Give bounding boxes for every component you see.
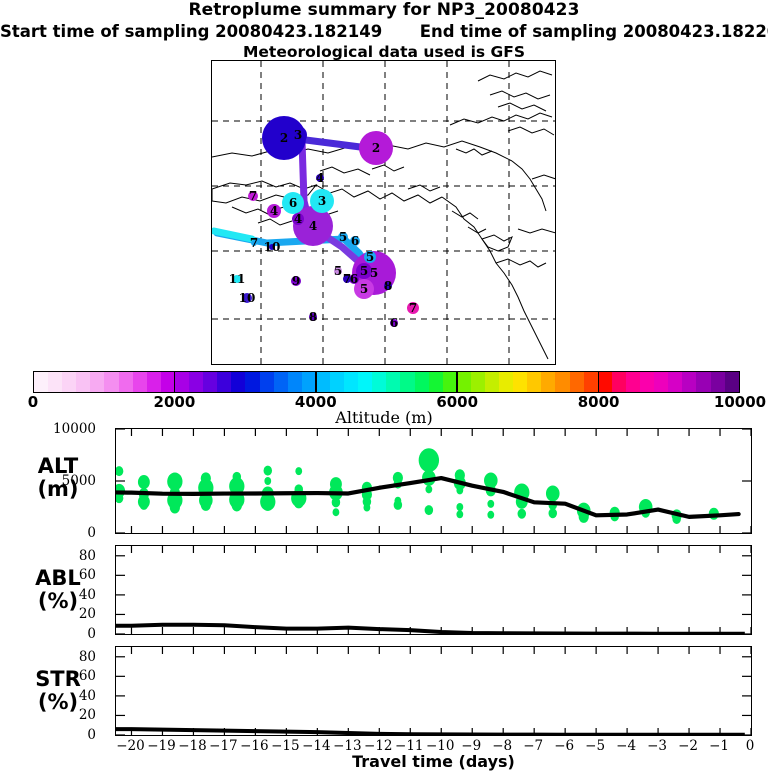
- colorbar-swatch: [372, 372, 386, 392]
- colorbar-swatch: [62, 372, 76, 392]
- map-altitude-marker: [407, 302, 419, 314]
- colorbar-swatch: [90, 372, 104, 392]
- colorbar-swatch: [598, 372, 612, 392]
- colorbar-swatch: [443, 372, 457, 392]
- colorbar-swatch: [217, 372, 231, 392]
- sampling-time-row: Start time of sampling 20080423.182149 E…: [0, 21, 768, 42]
- map-altitude-marker: [248, 191, 258, 201]
- colorbar-swatch: [344, 372, 358, 392]
- colorbar-swatch: [245, 372, 259, 392]
- colorbar-swatch: [260, 372, 274, 392]
- colorbar-swatch: [640, 372, 654, 392]
- map-altitude-marker: [384, 282, 392, 290]
- colorbar-swatch: [457, 372, 471, 392]
- colorbar-swatch: [499, 372, 513, 392]
- start-time-label: Start time of sampling 20080423.182149: [0, 22, 382, 41]
- colorbar-swatch: [429, 372, 443, 392]
- str-series-line: [116, 729, 745, 735]
- colorbar-swatch: [274, 372, 288, 392]
- map-altitude-marker: [390, 319, 398, 327]
- colorbar-swatch: [471, 372, 485, 392]
- colorbar-swatch: [415, 372, 429, 392]
- y-tick-label: 60: [79, 567, 96, 583]
- colorbar-swatch: [513, 372, 527, 392]
- colorbar-swatch: [316, 372, 330, 392]
- y-tick-label: 5000: [62, 473, 96, 489]
- colorbar-separator: [315, 371, 317, 393]
- map-altitude-marker: [309, 313, 317, 321]
- colorbar-swatch: [231, 372, 245, 392]
- map-altitude-marker: [334, 267, 342, 275]
- y-tick-label: 0: [87, 626, 96, 642]
- colorbar-swatch: [668, 372, 682, 392]
- map-altitude-marker: [350, 236, 360, 246]
- map-altitude-marker: [291, 276, 301, 286]
- alt-plot-panel[interactable]: [115, 428, 752, 534]
- altitude-colorbar[interactable]: [33, 371, 740, 393]
- str-y-tick-labels: 020406080: [0, 646, 112, 736]
- y-tick-label: 60: [79, 668, 96, 684]
- colorbar-swatch: [612, 372, 626, 392]
- y-tick-label: 80: [79, 548, 96, 564]
- colorbar-separator: [456, 371, 458, 393]
- map-altitude-marker: [310, 189, 334, 213]
- str-x-ticks: [131, 647, 751, 735]
- title-block: Retroplume summary for NP3_20080423 Star…: [0, 0, 768, 62]
- map-altitude-marker: [316, 174, 324, 182]
- map-altitude-marker: [289, 126, 307, 144]
- alt-y-tick-labels: 0500010000: [0, 428, 112, 534]
- met-data-label: Meteorological data used is GFS: [0, 42, 768, 62]
- colorbar-swatch: [189, 372, 203, 392]
- map-altitude-marker: [242, 293, 252, 303]
- colorbar-swatch: [358, 372, 372, 392]
- map-altitude-marker: [359, 131, 393, 165]
- map-altitude-marker: [282, 192, 304, 214]
- y-tick-label: 0: [87, 525, 96, 541]
- colorbar-swatch: [626, 372, 640, 392]
- colorbar-swatch: [400, 372, 414, 392]
- map-altitude-marker: [292, 213, 304, 225]
- abl-plot-canvas: [116, 546, 751, 634]
- map-altitude-marker: [269, 244, 275, 250]
- colorbar-swatch: [541, 372, 555, 392]
- colorbar-separator: [598, 371, 600, 393]
- map-altitude-marker: [251, 240, 257, 246]
- map-altitude-marker: [364, 251, 376, 263]
- colorbar-swatch: [119, 372, 133, 392]
- map-altitude-marker: [343, 275, 351, 283]
- colorbar-swatch: [570, 372, 584, 392]
- colorbar-swatch: [76, 372, 90, 392]
- colorbar-swatch: [485, 372, 499, 392]
- y-tick-label: 80: [79, 649, 96, 665]
- colorbar-swatch: [104, 372, 118, 392]
- colorbar-swatch: [330, 372, 344, 392]
- map-altitude-marker: [338, 232, 348, 242]
- y-tick-label: 0: [87, 727, 96, 743]
- colorbar-swatch: [725, 372, 739, 392]
- map-altitude-marker: [267, 204, 281, 218]
- y-tick-label: 40: [79, 587, 96, 603]
- abl-x-ticks: [131, 546, 751, 634]
- colorbar-swatch: [288, 372, 302, 392]
- alt-plot-canvas: [116, 429, 751, 533]
- retroplume-map[interactable]: 2324746344567105576558511109876: [211, 60, 556, 365]
- colorbar-swatch: [386, 372, 400, 392]
- y-tick-label: 20: [79, 606, 96, 622]
- colorbar-separator: [174, 371, 176, 393]
- y-tick-label: 10000: [53, 421, 96, 437]
- colorbar-swatch: [654, 372, 668, 392]
- y-tick-label: 20: [79, 707, 96, 723]
- str-plot-panel[interactable]: [115, 646, 752, 736]
- map-altitude-marker: [233, 275, 241, 283]
- abl-y-ticks: [116, 556, 751, 634]
- end-time-label: End time of sampling 20080423.182208: [420, 22, 768, 41]
- colorbar-swatch: [175, 372, 189, 392]
- map-point-layer: 2324746344567105576558511109876: [212, 61, 555, 364]
- colorbar-swatch: [527, 372, 541, 392]
- colorbar-swatch: [48, 372, 62, 392]
- colorbar-swatch: [302, 372, 316, 392]
- abl-y-tick-labels: 020406080: [0, 545, 112, 635]
- colorbar-swatch: [133, 372, 147, 392]
- colorbar-swatch: [584, 372, 598, 392]
- colorbar-title: Altitude (m): [0, 408, 768, 427]
- str-plot-canvas: [116, 647, 751, 735]
- page-title: Retroplume summary for NP3_20080423: [0, 0, 768, 21]
- y-tick-label: 40: [79, 688, 96, 704]
- colorbar-swatch: [696, 372, 710, 392]
- colorbar-swatch: [203, 372, 217, 392]
- alt-x-ticks: [131, 429, 751, 533]
- colorbar-swatch: [34, 372, 48, 392]
- colorbar-swatch: [682, 372, 696, 392]
- x-axis-title: Travel time (days): [115, 752, 752, 771]
- str-y-ticks: [116, 657, 751, 735]
- colorbar-swatch: [555, 372, 569, 392]
- abl-series-line: [116, 625, 745, 634]
- colorbar-swatch: [147, 372, 161, 392]
- colorbar-swatch: [711, 372, 725, 392]
- abl-plot-panel[interactable]: [115, 545, 752, 635]
